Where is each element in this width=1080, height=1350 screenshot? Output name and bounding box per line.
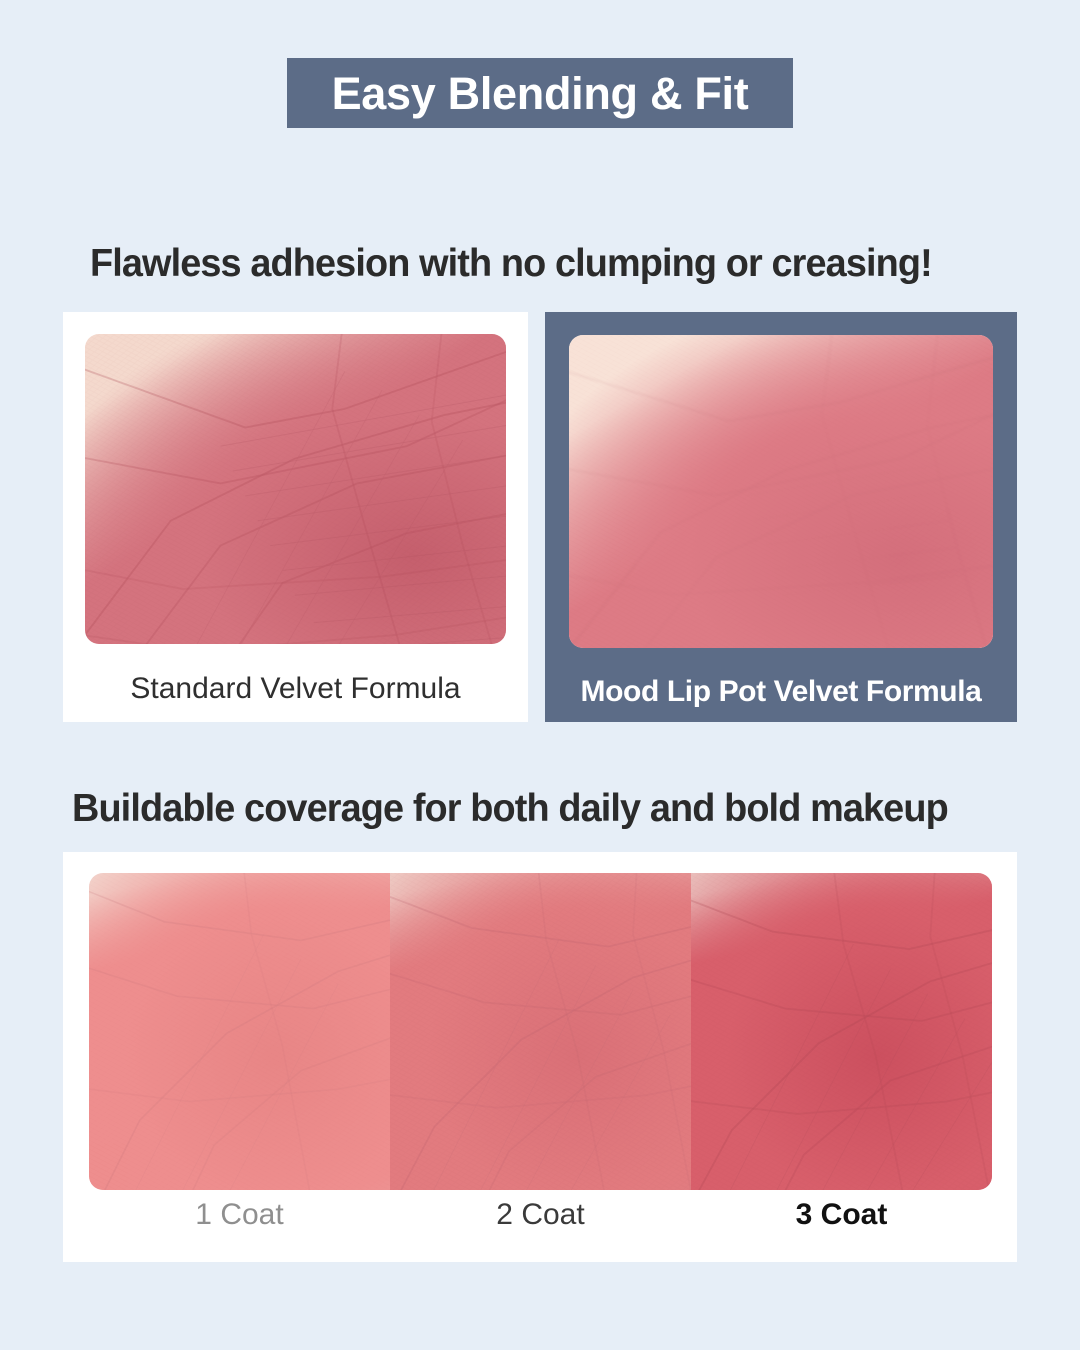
coverage-panel-2-coat <box>390 873 691 1190</box>
swatch-photo-standard <box>85 334 506 644</box>
skin-grain-texture <box>569 335 993 648</box>
skin-grain-texture <box>85 334 506 644</box>
coverage-panel-1-coat <box>89 873 390 1190</box>
coverage-label-3-coat: 3 Coat <box>691 1200 992 1230</box>
comparison-card-label: Standard Velvet Formula <box>130 674 460 704</box>
title-banner-text: Easy Blending & Fit <box>332 71 749 116</box>
swatch-photo-featured <box>569 335 993 648</box>
coverage-card: 1 Coat 2 Coat 3 Coat <box>63 852 1017 1262</box>
adhesion-comparison-row: Standard Velvet Formula <box>63 312 1017 722</box>
coverage-label-2-coat: 2 Coat <box>390 1200 691 1230</box>
coverage-swatch-strip <box>89 873 992 1190</box>
coverage-panel-3-coat <box>691 873 992 1190</box>
coverage-section-heading: Buildable coverage for both daily and bo… <box>72 787 948 831</box>
title-banner: Easy Blending & Fit <box>287 58 793 128</box>
skin-grain-texture <box>89 873 390 1190</box>
comparison-card-label: Mood Lip Pot Velvet Formula <box>581 677 982 707</box>
comparison-card-standard: Standard Velvet Formula <box>63 312 528 722</box>
skin-grain-texture <box>390 873 691 1190</box>
coverage-label-row: 1 Coat 2 Coat 3 Coat <box>89 1200 992 1230</box>
coverage-label-1-coat: 1 Coat <box>89 1200 390 1230</box>
skin-grain-texture <box>691 873 992 1190</box>
adhesion-section-heading: Flawless adhesion with no clumping or cr… <box>90 242 932 286</box>
comparison-card-featured: Mood Lip Pot Velvet Formula <box>545 312 1017 722</box>
